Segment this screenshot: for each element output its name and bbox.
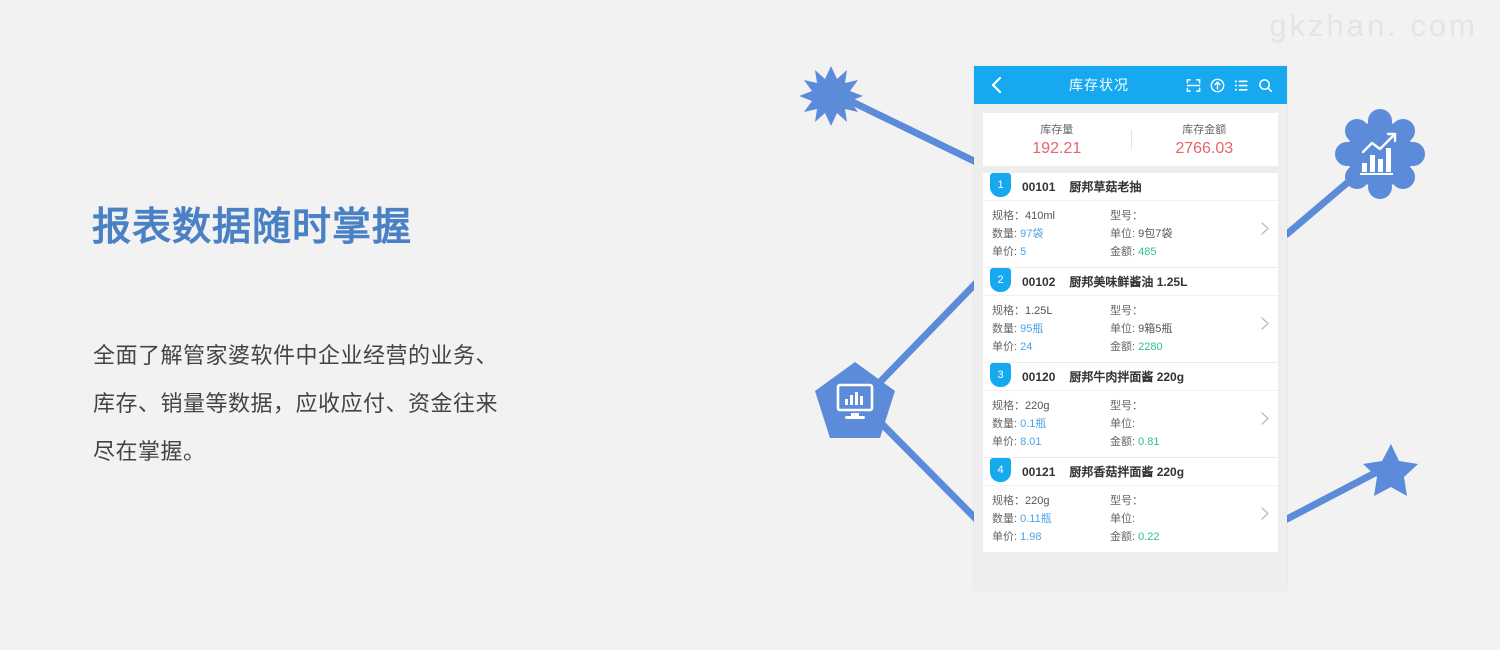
body-copy: 全面了解管家婆软件中企业经营的业务、 库存、销量等数据，应收应付、资金往来 尽在… [93, 332, 593, 476]
qty-value: 0.11瓶 [1020, 513, 1052, 525]
amount-label: 金额: [1110, 531, 1135, 543]
amount-label: 金额: [1110, 246, 1135, 258]
unit-value: 9包7袋 [1138, 228, 1172, 240]
price-label: 单价: [992, 341, 1017, 353]
qty-label: 数量: [992, 228, 1017, 240]
unit-label: 单位: [1110, 418, 1135, 430]
price-field: 单价: 8.01 [992, 433, 1110, 451]
unit-label: 单位: [1110, 513, 1135, 525]
list-item-header: 3 00120 厨邦牛肉拌面酱 220g [983, 363, 1278, 391]
unit-value: 9箱5瓶 [1138, 323, 1172, 335]
connector-line-mid-down [880, 422, 978, 521]
model-field: 型号： [1110, 492, 1252, 510]
connector-line-mid-up [880, 281, 978, 382]
spec-label: 规格： [992, 400, 1025, 412]
inventory-list: 1 00101 厨邦草菇老抽 规格：410ml 型号： 数量: 97袋 单位: … [983, 173, 1278, 552]
connector-line-bottom-right [1287, 473, 1375, 519]
price-field: 单价: 5 [992, 243, 1110, 261]
price-label: 单价: [992, 531, 1017, 543]
chevron-right-icon[interactable] [1261, 507, 1269, 520]
app-header: 库存状况 [974, 66, 1287, 104]
list-icon[interactable] [1234, 78, 1249, 93]
model-field: 型号： [1110, 302, 1252, 320]
spec-label: 规格： [992, 210, 1025, 222]
price-value: 24 [1020, 341, 1032, 353]
unit-field: 单位: [1110, 510, 1252, 528]
list-empty-space [974, 552, 1287, 594]
amount-value: 0.22 [1138, 531, 1159, 543]
pentagon-monitor-badge [815, 362, 895, 438]
list-item-details: 规格：410ml 型号： 数量: 97袋 单位: 9包7袋 单价: 5 金额: … [983, 201, 1278, 267]
upload-circle-icon[interactable] [1210, 78, 1225, 93]
spec-field: 规格：220g [992, 397, 1110, 415]
summary-label: 库存量 [983, 121, 1131, 137]
item-code: 00120 [1022, 370, 1055, 384]
summary-label: 库存金额 [1131, 121, 1279, 137]
price-field: 单价: 24 [992, 338, 1110, 356]
list-item[interactable]: 2 00102 厨邦美味鲜酱油 1.25L 规格：1.25L 型号： 数量: 9… [983, 268, 1278, 363]
starburst-badge [799, 66, 863, 126]
index-badge: 2 [990, 268, 1011, 292]
summary-card: 库存量 192.21 库存金额 2766.03 [983, 113, 1278, 166]
model-label: 型号： [1110, 210, 1143, 222]
unit-field: 单位: 9箱5瓶 [1110, 320, 1252, 338]
slide-canvas: gkzhan. com 报表数据随时掌握 全面了解管家婆软件中企业经营的业务、 … [0, 0, 1500, 650]
list-item-header: 4 00121 厨邦香菇拌面酱 220g [983, 458, 1278, 486]
connector-line-top-right [1287, 172, 1360, 234]
amount-field: 金额: 2280 [1110, 338, 1252, 356]
phone-mockup: 库存状况 [974, 66, 1287, 590]
item-code: 00102 [1022, 275, 1055, 289]
spec-value: 220g [1025, 495, 1049, 507]
spec-value: 220g [1025, 400, 1049, 412]
unit-label: 单位: [1110, 228, 1135, 240]
price-field: 单价: 1.98 [992, 528, 1110, 546]
page-title: 报表数据随时掌握 [92, 196, 412, 252]
model-label: 型号： [1110, 495, 1143, 507]
body-line: 全面了解管家婆软件中企业经营的业务、 [93, 332, 593, 380]
qty-value: 97袋 [1020, 228, 1043, 240]
price-label: 单价: [992, 436, 1017, 448]
qty-label: 数量: [992, 418, 1017, 430]
list-item[interactable]: 3 00120 厨邦牛肉拌面酱 220g 规格：220g 型号： 数量: 0.1… [983, 363, 1278, 458]
spec-label: 规格： [992, 495, 1025, 507]
summary-stat-amount: 库存金额 2766.03 [1131, 121, 1279, 158]
model-label: 型号： [1110, 400, 1143, 412]
spec-field: 规格：410ml [992, 207, 1110, 225]
spec-label: 规格： [992, 305, 1025, 317]
qty-field: 数量: 0.1瓶 [992, 415, 1110, 433]
item-code: 00121 [1022, 465, 1055, 479]
unit-field: 单位: 9包7袋 [1110, 225, 1252, 243]
spec-value: 1.25L [1025, 305, 1053, 317]
amount-field: 金额: 485 [1110, 243, 1252, 261]
qty-value: 95瓶 [1020, 323, 1043, 335]
app-title: 库存状况 [1008, 75, 1186, 95]
summary-value: 2766.03 [1131, 140, 1279, 158]
list-item-details: 规格：1.25L 型号： 数量: 95瓶 单位: 9箱5瓶 单价: 24 金额:… [983, 296, 1278, 362]
item-name: 厨邦香菇拌面酱 220g [1069, 463, 1184, 480]
amount-value: 2280 [1138, 341, 1162, 353]
connector-line-top-left [834, 93, 978, 163]
amount-field: 金额: 0.81 [1110, 433, 1252, 451]
search-icon[interactable] [1258, 78, 1273, 93]
qty-field: 数量: 97袋 [992, 225, 1110, 243]
qty-value: 0.1瓶 [1020, 418, 1046, 430]
qty-label: 数量: [992, 323, 1017, 335]
chevron-right-icon[interactable] [1261, 412, 1269, 425]
item-name: 厨邦美味鲜酱油 1.25L [1069, 273, 1187, 290]
body-line: 尽在掌握。 [93, 428, 593, 476]
price-value: 1.98 [1020, 531, 1041, 543]
model-label: 型号： [1110, 305, 1143, 317]
model-field: 型号： [1110, 397, 1252, 415]
list-item[interactable]: 4 00121 厨邦香菇拌面酱 220g 规格：220g 型号： 数量: 0.1… [983, 458, 1278, 552]
price-label: 单价: [992, 246, 1017, 258]
index-badge: 4 [990, 458, 1011, 482]
model-field: 型号： [1110, 207, 1252, 225]
chevron-right-icon[interactable] [1261, 317, 1269, 330]
spec-field: 规格：220g [992, 492, 1110, 510]
amount-label: 金额: [1110, 436, 1135, 448]
star-badge [1363, 444, 1418, 496]
unit-label: 单位: [1110, 323, 1135, 335]
qty-field: 数量: 95瓶 [992, 320, 1110, 338]
scallop-chart-badge [1335, 109, 1425, 199]
amount-value: 0.81 [1138, 436, 1159, 448]
qty-field: 数量: 0.11瓶 [992, 510, 1110, 528]
price-value: 5 [1020, 246, 1026, 258]
chevron-left-icon[interactable] [986, 74, 1008, 96]
index-badge: 1 [990, 173, 1011, 197]
price-value: 8.01 [1020, 436, 1041, 448]
scan-frame-icon[interactable] [1186, 78, 1201, 93]
list-item-header: 1 00101 厨邦草菇老抽 [983, 173, 1278, 201]
list-item-header: 2 00102 厨邦美味鲜酱油 1.25L [983, 268, 1278, 296]
qty-label: 数量: [992, 513, 1017, 525]
item-code: 00101 [1022, 180, 1055, 194]
body-line: 库存、销量等数据，应收应付、资金往来 [93, 380, 593, 428]
spec-field: 规格：1.25L [992, 302, 1110, 320]
chevron-right-icon[interactable] [1261, 222, 1269, 235]
item-name: 厨邦草菇老抽 [1069, 178, 1141, 195]
item-name: 厨邦牛肉拌面酱 220g [1069, 368, 1184, 385]
spec-value: 410ml [1025, 210, 1055, 222]
list-item-details: 规格：220g 型号： 数量: 0.1瓶 单位: 单价: 8.01 金额: 0.… [983, 391, 1278, 457]
summary-stat-quantity: 库存量 192.21 [983, 121, 1131, 158]
list-item-details: 规格：220g 型号： 数量: 0.11瓶 单位: 单价: 1.98 金额: 0… [983, 486, 1278, 552]
watermark-text: gkzhan. com [1269, 8, 1478, 44]
list-item[interactable]: 1 00101 厨邦草菇老抽 规格：410ml 型号： 数量: 97袋 单位: … [983, 173, 1278, 268]
summary-value: 192.21 [983, 140, 1131, 158]
amount-field: 金额: 0.22 [1110, 528, 1252, 546]
unit-field: 单位: [1110, 415, 1252, 433]
amount-value: 485 [1138, 246, 1156, 258]
index-badge: 3 [990, 363, 1011, 387]
amount-label: 金额: [1110, 341, 1135, 353]
